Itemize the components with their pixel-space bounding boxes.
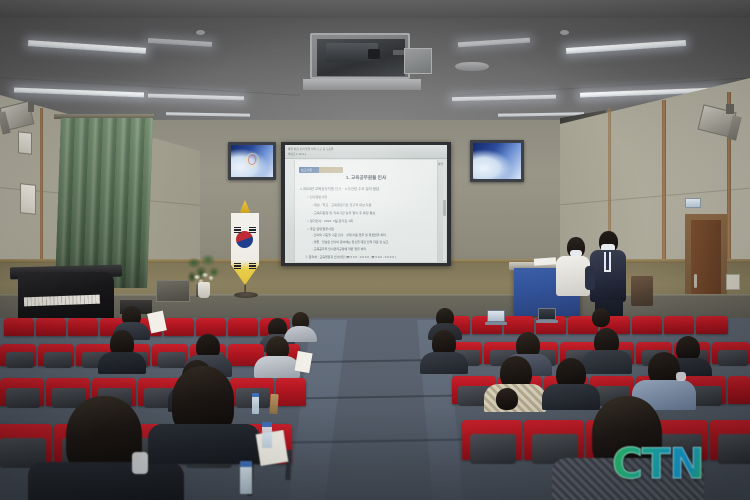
side-display-left xyxy=(228,142,276,180)
projection-screen: 파일 편집 보기 입력 서식 도구 표 도움말 바탕글 ▾ 10.0 ▾ 100… xyxy=(281,142,451,266)
trigram-mark xyxy=(234,227,241,228)
laptop-base xyxy=(536,320,558,323)
display-emblem-inner-icon xyxy=(248,155,256,165)
curtain-shading xyxy=(55,118,153,288)
slide-line: ※ 문의처 : 교육행정과 인사담당 (☎ 0 0 0 - 0 0 0 0 , … xyxy=(305,255,396,259)
trigram-mark xyxy=(249,265,256,266)
attendee-shoulders xyxy=(254,356,300,378)
slide-header-tag-label: 보고사항 xyxy=(301,168,312,172)
water-bottle[interactable] xyxy=(240,466,252,494)
slide-line: - 대상 : 학교 · 교육행정기관 전구역 대상 자원 xyxy=(312,202,372,207)
stage-chair xyxy=(631,276,653,306)
trigram-mark xyxy=(249,227,256,228)
door-handle[interactable] xyxy=(694,274,697,288)
seat-back xyxy=(718,350,748,366)
flag-stand xyxy=(234,292,258,298)
slide-title: 1. 교육공무원들 인사 xyxy=(285,175,447,181)
speaker-bracket xyxy=(726,104,734,114)
slide-line: ○ 인사일반사항 xyxy=(307,194,327,199)
trigram-mark xyxy=(234,229,241,230)
trigram-mark xyxy=(234,265,241,266)
seated-attendee xyxy=(592,308,610,327)
ceiling-band-rear xyxy=(0,0,750,18)
slide-line: - 교육지원청 및 직속기관 실무 협의 후 확정 통보 xyxy=(312,210,375,215)
seat[interactable] xyxy=(164,318,194,336)
seat-back xyxy=(6,352,34,368)
seat[interactable] xyxy=(664,316,694,334)
seat[interactable] xyxy=(36,318,66,336)
attendee-shoulders xyxy=(284,326,317,342)
side-display-right xyxy=(470,140,524,182)
seat[interactable] xyxy=(68,318,98,336)
bottle-cap xyxy=(240,461,252,467)
trigram-mark xyxy=(234,263,241,264)
attendee-shoulders xyxy=(98,352,146,374)
ctn-watermark-logo: CTN xyxy=(612,443,704,485)
attendee-shoulders xyxy=(420,352,468,374)
bottle-cap xyxy=(262,422,272,427)
wall-notice-frame xyxy=(18,131,32,154)
trigram-mark xyxy=(249,232,256,233)
seat-back xyxy=(44,352,72,368)
toolbar-font-text: 바탕글 ▾ 10.0 ▾ xyxy=(288,152,306,156)
seat[interactable] xyxy=(276,378,306,406)
face-mask xyxy=(132,452,148,474)
seat[interactable] xyxy=(228,318,258,336)
attendee-shoulders xyxy=(582,350,632,374)
face-mask xyxy=(676,372,686,381)
slide-line: □ 2023년 교육공무직원 인사 · 노무관련 주요 질의 응답 xyxy=(300,186,379,191)
necktie xyxy=(606,252,609,270)
projector-ledge xyxy=(303,79,421,90)
exit-sign xyxy=(685,198,701,208)
display-screen xyxy=(231,145,273,177)
av-equipment-rack xyxy=(156,280,190,302)
attendee-shoulders xyxy=(148,424,260,464)
speaker-bracket xyxy=(28,102,34,112)
folding-desk-arm[interactable] xyxy=(269,394,278,415)
projector-lens-icon xyxy=(368,49,380,59)
attendee-shoulders xyxy=(28,462,184,500)
trigram-mark xyxy=(249,268,256,269)
water-bottle[interactable] xyxy=(252,396,259,414)
seated-attendee xyxy=(496,388,518,410)
ceiling-projector-recess xyxy=(310,33,410,79)
attendee-shoulders xyxy=(542,384,600,410)
seat[interactable] xyxy=(4,318,34,336)
seat-back xyxy=(718,434,750,464)
photo-scene: 파일 편집 보기 입력 서식 도구 표 도움말 바탕글 ▾ 10.0 ▾ 100… xyxy=(0,0,750,500)
handout-paper xyxy=(256,430,289,466)
display-screen xyxy=(473,143,521,179)
bottle-cap xyxy=(252,393,259,397)
toolbar-menu-text: 파일 편집 보기 입력 서식 도구 표 도움말 xyxy=(288,147,334,151)
taeguk-symbol-icon xyxy=(236,231,253,248)
slide-line: ○ 정기인사 : 2023. 3월 정기로 1회 xyxy=(307,218,353,223)
seat[interactable] xyxy=(728,376,750,404)
slide-line: ○ 주요 담당업무사항 xyxy=(307,226,334,231)
water-bottle[interactable] xyxy=(262,426,272,448)
slide-line: - 교육공무직 인사관리규정에 따른 업무 처리 xyxy=(312,247,366,251)
attendee-laptop[interactable] xyxy=(487,310,505,322)
seat-back xyxy=(158,352,186,368)
slide-scrollbar-thumb[interactable] xyxy=(443,200,446,216)
wall-notice-frame xyxy=(20,183,36,215)
trigram-mark xyxy=(234,232,241,233)
projection-surface: 파일 편집 보기 입력 서식 도구 표 도움말 바탕글 ▾ 10.0 ▾ 100… xyxy=(285,145,447,263)
wall-outlet xyxy=(726,274,740,290)
presenter-arm xyxy=(585,266,595,290)
trigram-mark xyxy=(249,263,256,264)
slide-line: - 결원 · 전보된 인사이 문서에는 정신을 대한 인적 자료 및 보고 xyxy=(312,240,388,244)
seat[interactable] xyxy=(196,318,226,336)
seat-back xyxy=(6,388,40,408)
trigram-mark xyxy=(249,229,256,230)
seat[interactable] xyxy=(696,316,728,334)
seat[interactable] xyxy=(632,316,662,334)
slide-line: - 인사의 기준일 기준 인사 · 실제 이동 업무 및 행정업무 처리 xyxy=(312,233,386,237)
trigram-mark xyxy=(234,268,241,269)
projector-mount xyxy=(404,48,432,74)
smoke-detector-icon xyxy=(560,30,569,35)
smoke-detector-icon xyxy=(196,30,205,35)
laptop-base xyxy=(485,322,507,325)
attendee-laptop[interactable] xyxy=(538,308,556,320)
ceiling-vent xyxy=(455,62,489,71)
flower-vase xyxy=(198,282,210,298)
seat-back xyxy=(470,434,516,464)
